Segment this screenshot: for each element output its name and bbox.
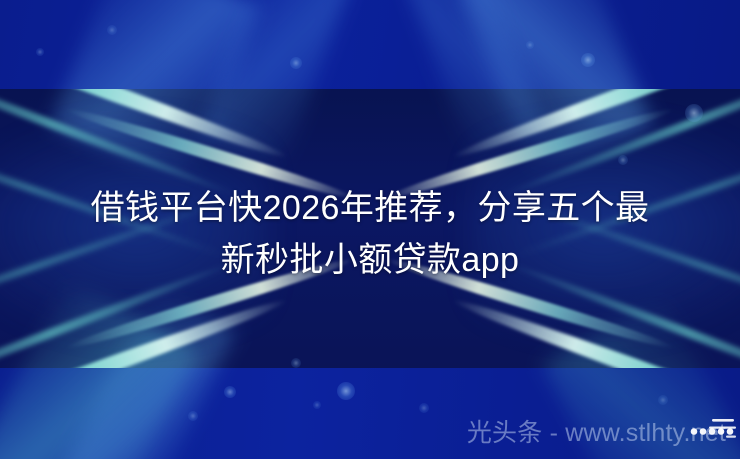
background-band-top (0, 0, 740, 89)
page-title-line-1: 借钱平台快2026年推荐，分享五个最 (22, 182, 718, 234)
watermark: 光头条 - www.stlhty.net (467, 413, 726, 449)
page-title-line-2: 新秒批小额贷款app (22, 234, 718, 286)
watermark-text: 光头条 - www.stlhty.net (467, 413, 726, 449)
promo-banner: 借钱平台快2026年推荐，分享五个最 新秒批小额贷款app 光头条 - www.… (0, 0, 740, 459)
page-title: 借钱平台快2026年推荐，分享五个最 新秒批小额贷款app (0, 182, 740, 286)
